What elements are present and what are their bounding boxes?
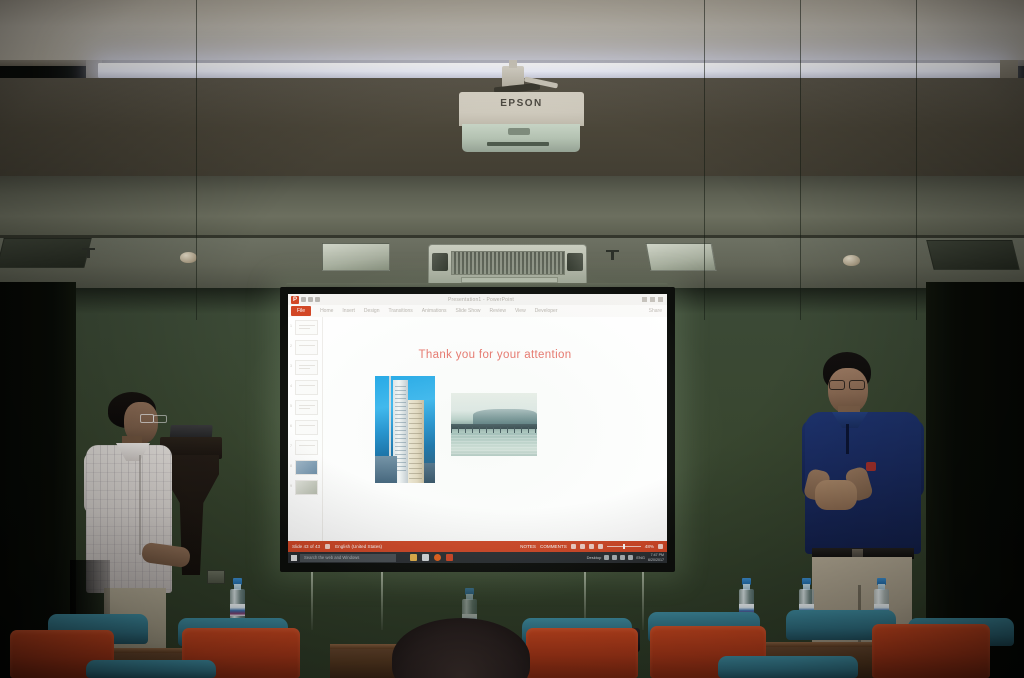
chair-red-back: [872, 624, 990, 678]
spellcheck-icon[interactable]: [325, 544, 330, 549]
window-controls[interactable]: [642, 297, 667, 302]
tab-review[interactable]: Review: [490, 308, 506, 314]
slide-indicator[interactable]: Slide 43 of 43: [292, 544, 320, 549]
taskbar-app-icons[interactable]: [410, 554, 453, 561]
projector-brand-label: EPSON: [459, 98, 584, 109]
close-icon[interactable]: [658, 297, 663, 302]
tray-desktop-label[interactable]: Desktop: [587, 555, 602, 560]
language-indicator[interactable]: English (United States): [335, 544, 382, 549]
chair-teal-front: [718, 656, 858, 678]
comments-button[interactable]: COMMENTS: [540, 544, 567, 549]
ceiling-panel-right: [646, 243, 717, 271]
slide-thumbnail[interactable]: 5: [295, 400, 318, 415]
projection-screen: P Presentation1 - PowerPoint File Home I…: [280, 287, 675, 572]
ac-grille: [451, 251, 565, 275]
tab-design[interactable]: Design: [364, 308, 380, 314]
wall-seam-1: [196, 0, 197, 320]
thumbnail-number: 5: [290, 404, 292, 408]
wall-seam-2: [704, 0, 705, 320]
fit-slide-icon[interactable]: [658, 544, 663, 549]
tab-file[interactable]: File: [291, 306, 311, 316]
wall-seam-3: [800, 0, 801, 320]
tab-slide-show[interactable]: Slide Show: [456, 308, 481, 314]
tower-right-block: [407, 400, 424, 483]
waterfront-pier-photo: [451, 393, 537, 456]
slide-thumbnail[interactable]: 6: [295, 420, 318, 435]
tab-insert[interactable]: Insert: [342, 308, 355, 314]
presenter-right-clasped-hands: [815, 480, 857, 510]
slideshow-icon[interactable]: [598, 544, 603, 549]
firefox-icon[interactable]: [434, 554, 441, 561]
slide-thumbnail-panel[interactable]: 1 2 3 4 5 6 7 8 9: [288, 317, 323, 541]
thumbnail-number: 4: [290, 384, 292, 388]
tray-network-icon[interactable]: [612, 555, 617, 560]
document-title: Presentation1 - PowerPoint: [320, 297, 642, 303]
thumbnail-line: [299, 368, 310, 369]
conference-room-photo: EPSON P: [0, 0, 1024, 678]
chair-back-panel: [526, 628, 638, 678]
thumbnail-line: [299, 365, 315, 366]
smoke-detector-left: [180, 252, 197, 263]
save-icon[interactable]: [301, 297, 306, 302]
file-explorer-icon[interactable]: [410, 554, 417, 561]
projector-lens: [508, 128, 530, 135]
powerpoint-title-bar: P Presentation1 - PowerPoint: [288, 294, 667, 305]
thumbnail-number: 1: [290, 324, 292, 328]
wall-seam-4: [916, 0, 917, 320]
chair-teal-front: [86, 660, 216, 678]
thumbnail-number: 8: [290, 464, 292, 468]
store-icon[interactable]: [422, 554, 429, 561]
start-button[interactable]: [288, 552, 299, 563]
tray-overflow-icon[interactable]: [604, 555, 609, 560]
thumbnail-number: 3: [290, 364, 292, 368]
tray-action-center-icon[interactable]: [628, 555, 633, 560]
chair-red-back: [526, 628, 638, 678]
slide-thumbnail[interactable]: 4: [295, 380, 318, 395]
share-button[interactable]: Share: [649, 308, 662, 314]
minimize-icon[interactable]: [642, 297, 647, 302]
screen-support-rod-2: [381, 572, 383, 630]
system-tray[interactable]: Desktop ENG 7:47 PM 6/20/2017: [587, 553, 667, 561]
status-bar-left: Slide 43 of 43 English (United States): [288, 544, 382, 549]
smoke-detector-right: [843, 255, 860, 266]
wall-power-outlet: [207, 570, 225, 584]
tab-developer[interactable]: Developer: [535, 308, 558, 314]
quick-access-toolbar[interactable]: P: [288, 296, 320, 304]
slide-title-text: Thank you for your attention: [323, 349, 667, 361]
zoom-slider[interactable]: [607, 546, 641, 547]
ac-vane-right: [567, 253, 583, 271]
slide-thumbnail[interactable]: 8: [295, 460, 318, 475]
thumbnail-line: [299, 345, 315, 346]
taskbar-search-input[interactable]: Search the web and Windows: [300, 554, 396, 562]
water-shimmer: [451, 435, 537, 454]
distant-hills: [473, 409, 537, 424]
windows-logo-icon: [291, 555, 297, 561]
thumbnail-line: [299, 405, 315, 406]
ceiling-panel-far-right: [926, 240, 1019, 270]
thumbnail-line: [299, 385, 315, 386]
ceiling-soffit: [0, 176, 1024, 238]
undo-icon[interactable]: [308, 297, 313, 302]
slide-thumbnail[interactable]: 7: [295, 440, 318, 455]
tab-transitions[interactable]: Transitions: [389, 308, 413, 314]
eyeglasses-icon: [829, 380, 865, 388]
powerpoint-status-bar[interactable]: Slide 43 of 43 English (United States) N…: [288, 541, 667, 552]
slide-canvas[interactable]: Thank you for your attention: [323, 317, 667, 541]
tab-animations[interactable]: Animations: [422, 308, 447, 314]
taskbar-clock[interactable]: 7:47 PM 6/20/2017: [648, 553, 664, 561]
sprinkler-head-left: [82, 248, 95, 258]
ceiling-panel-left: [322, 243, 390, 271]
powerpoint-workspace: 1 2 3 4 5 6 7 8 9 Thank you for your att…: [288, 317, 667, 541]
sprinkler-head-right: [606, 250, 619, 260]
zoom-level[interactable]: 48%: [645, 544, 654, 549]
thumbnail-number: 7: [290, 444, 292, 448]
tower-building-photo: [375, 376, 435, 483]
slide-sorter-icon[interactable]: [580, 544, 585, 549]
chair-back-panel: [872, 624, 990, 678]
slide-thumbnail[interactable]: 1: [295, 320, 318, 335]
tray-volume-icon[interactable]: [620, 555, 625, 560]
powerpoint-logo-icon: P: [291, 296, 299, 304]
ceiling-panel-far-left: [0, 238, 92, 268]
presenter-right-placket: [846, 424, 849, 454]
tab-home[interactable]: Home: [320, 308, 333, 314]
screen-support-rod-4: [642, 572, 644, 630]
ceiling-ac-unit: [428, 244, 587, 286]
thumbnail-line: [299, 325, 315, 326]
tab-view[interactable]: View: [515, 308, 526, 314]
maximize-icon[interactable]: [650, 297, 655, 302]
ceiling-fluorescent-light: [98, 63, 1006, 78]
thumbnail-line: [299, 425, 315, 426]
thumbnail-number: 6: [290, 424, 292, 428]
eyeglasses-icon: [140, 414, 166, 421]
slide-thumbnail[interactable]: 3: [295, 360, 318, 375]
ceiling-upper: [0, 0, 1024, 66]
thumbnail-line: [299, 328, 310, 329]
projector-body: EPSON: [459, 92, 584, 126]
thumbnail-line: [299, 445, 315, 446]
normal-view-icon[interactable]: [571, 544, 576, 549]
status-bar-right: NOTES COMMENTS 48%: [520, 544, 667, 549]
clock-date: 6/20/2017: [648, 558, 664, 562]
thumbnail-number: 9: [290, 484, 292, 488]
bottle-label: [230, 604, 245, 616]
screen-support-rod-1: [311, 572, 313, 630]
projector-vent: [487, 142, 549, 146]
slide-thumbnail[interactable]: 9: [295, 480, 318, 495]
powerpoint-taskbar-icon[interactable]: [446, 554, 453, 561]
input-language-indicator[interactable]: ENG: [636, 555, 645, 560]
thumbnail-line: [299, 408, 310, 409]
polo-logo-icon: [866, 462, 876, 471]
zoom-slider-handle[interactable]: [623, 544, 625, 549]
tower-foreground-building: [375, 456, 397, 483]
thumbnail-number: 2: [290, 344, 292, 348]
ac-vane-left: [432, 253, 448, 271]
windows-taskbar[interactable]: Search the web and Windows Desktop ENG 7…: [288, 552, 667, 563]
projected-image: P Presentation1 - PowerPoint File Home I…: [288, 294, 667, 563]
presenter-left-placket: [139, 455, 141, 555]
notes-button[interactable]: NOTES: [520, 544, 536, 549]
slide-thumbnail[interactable]: 2: [295, 340, 318, 355]
reading-view-icon[interactable]: [589, 544, 594, 549]
